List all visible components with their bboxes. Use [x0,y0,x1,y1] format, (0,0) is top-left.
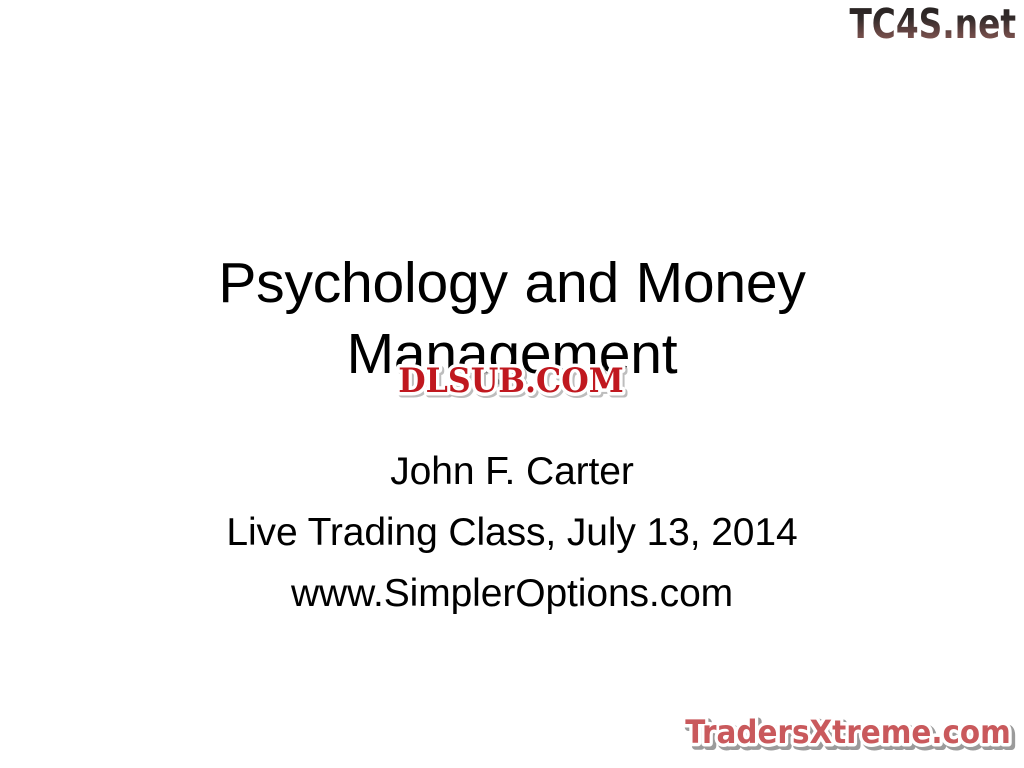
tc4s-logo-watermark: TC4S.net [830,2,1020,48]
dlsub-watermark-text: DLSUB.COM [398,360,623,400]
tc4s-logo-icon: TC4S.net [830,2,1020,48]
dlsub-watermark-icon: DLSUB.COM DLSUB.COM DLSUB.COM [366,358,654,404]
tradersxtreme-watermark-text: TradersXtreme.com [685,714,1011,751]
tc4s-logo-text: TC4S.net [849,0,1016,47]
tradersxtreme-watermark-icon: TradersXtreme.com TradersXtreme.com Trad… [676,708,1022,760]
presentation-slide: TC4S.net Psychology and Money Management… [0,0,1024,768]
subtitle-line-class-date: Live Trading Class, July 13, 2014 [155,502,869,563]
dlsub-watermark: DLSUB.COM DLSUB.COM DLSUB.COM [366,358,654,404]
tradersxtreme-watermark: TradersXtreme.com TradersXtreme.com Trad… [676,708,1022,760]
subtitle-line-presenter: John F. Carter [155,441,869,502]
subtitle-container: John F. Carter Live Trading Class, July … [155,441,869,625]
subtitle-line-website: www.SimplerOptions.com [155,563,869,624]
